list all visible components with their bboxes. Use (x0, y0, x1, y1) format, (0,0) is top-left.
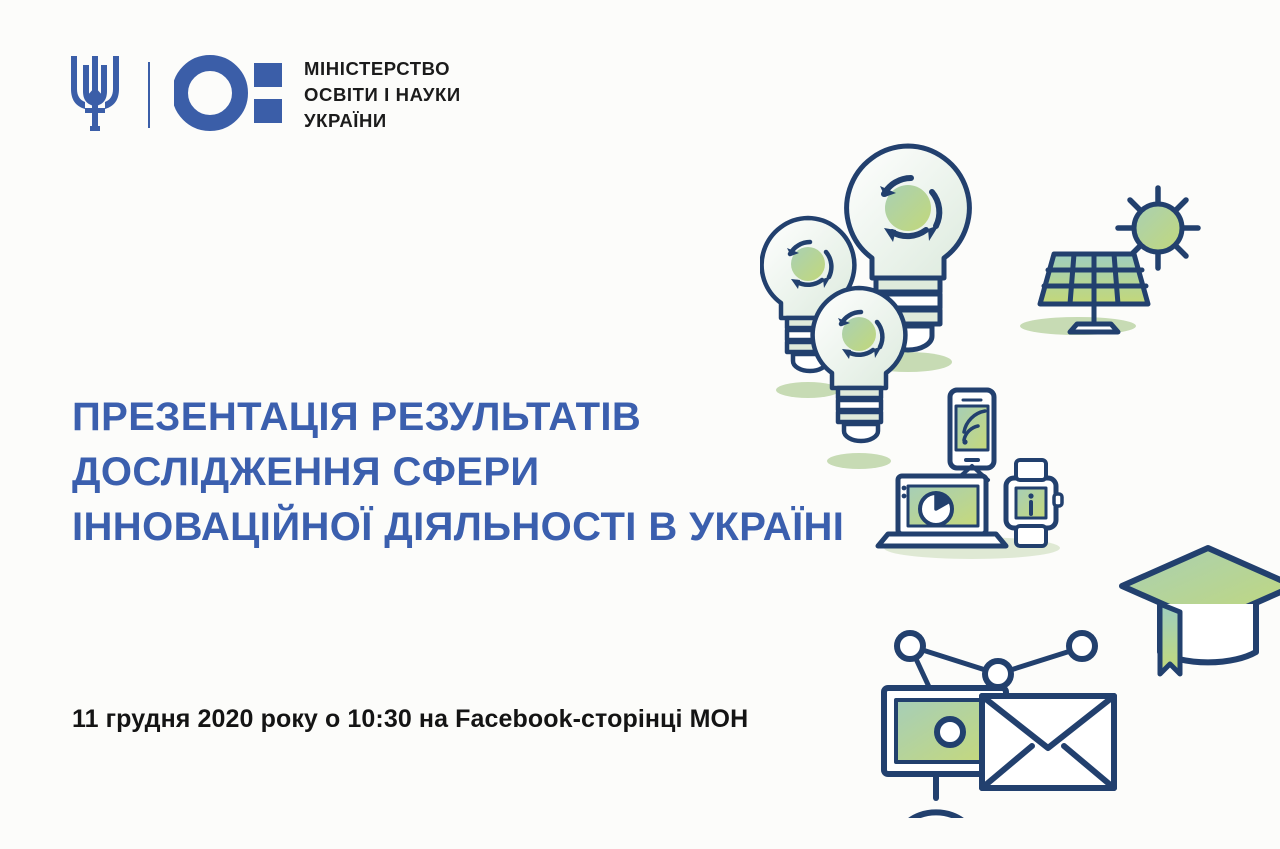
ministry-name-line-2: ОСВІТИ І НАУКИ (304, 82, 461, 108)
headline-line-1: ПРЕЗЕНТАЦІЯ РЕЗУЛЬТАТІВ (72, 390, 872, 445)
headline-line-2: ДОСЛІДЖЕННЯ СФЕРИ (72, 445, 872, 500)
logo-divider (148, 62, 150, 128)
smartphone-wifi-icon (950, 390, 994, 468)
page-title: ПРЕЗЕНТАЦІЯ РЕЗУЛЬТАТІВ ДОСЛІДЖЕННЯ СФЕР… (72, 390, 872, 556)
monitor-envelope-network-icon (884, 633, 1114, 818)
smartwatch-info-icon (1006, 460, 1062, 546)
ministry-name-line-3: УКРАЇНИ (304, 108, 461, 134)
ministry-logo-lockup[interactable]: МІНІСТЕРСТВО ОСВІТИ І НАУКИ УКРАЇНИ (68, 52, 461, 138)
ukraine-trident-icon (68, 51, 122, 140)
headline-line-3: ІННОВАЦІЙНОЇ ДІЯЛЬНОСТІ В УКРАЇНІ (72, 500, 872, 555)
mon-o-colon-mark (174, 55, 282, 136)
banner-canvas: МІНІСТЕРСТВО ОСВІТИ І НАУКИ УКРАЇНИ ПРЕЗ… (0, 0, 1280, 849)
event-details-text: 11 грудня 2020 року о 10:30 на Facebook-… (72, 705, 748, 734)
ministry-name: МІНІСТЕРСТВО ОСВІТИ І НАУКИ УКРАЇНИ (304, 56, 461, 135)
ministry-name-line-1: МІНІСТЕРСТВО (304, 56, 461, 82)
solar-panel-icon (1020, 254, 1148, 335)
graduation-cap-icon (1122, 548, 1280, 674)
lightbulb-recycle-small-bottom (813, 288, 906, 469)
innovation-illustration (760, 128, 1280, 818)
